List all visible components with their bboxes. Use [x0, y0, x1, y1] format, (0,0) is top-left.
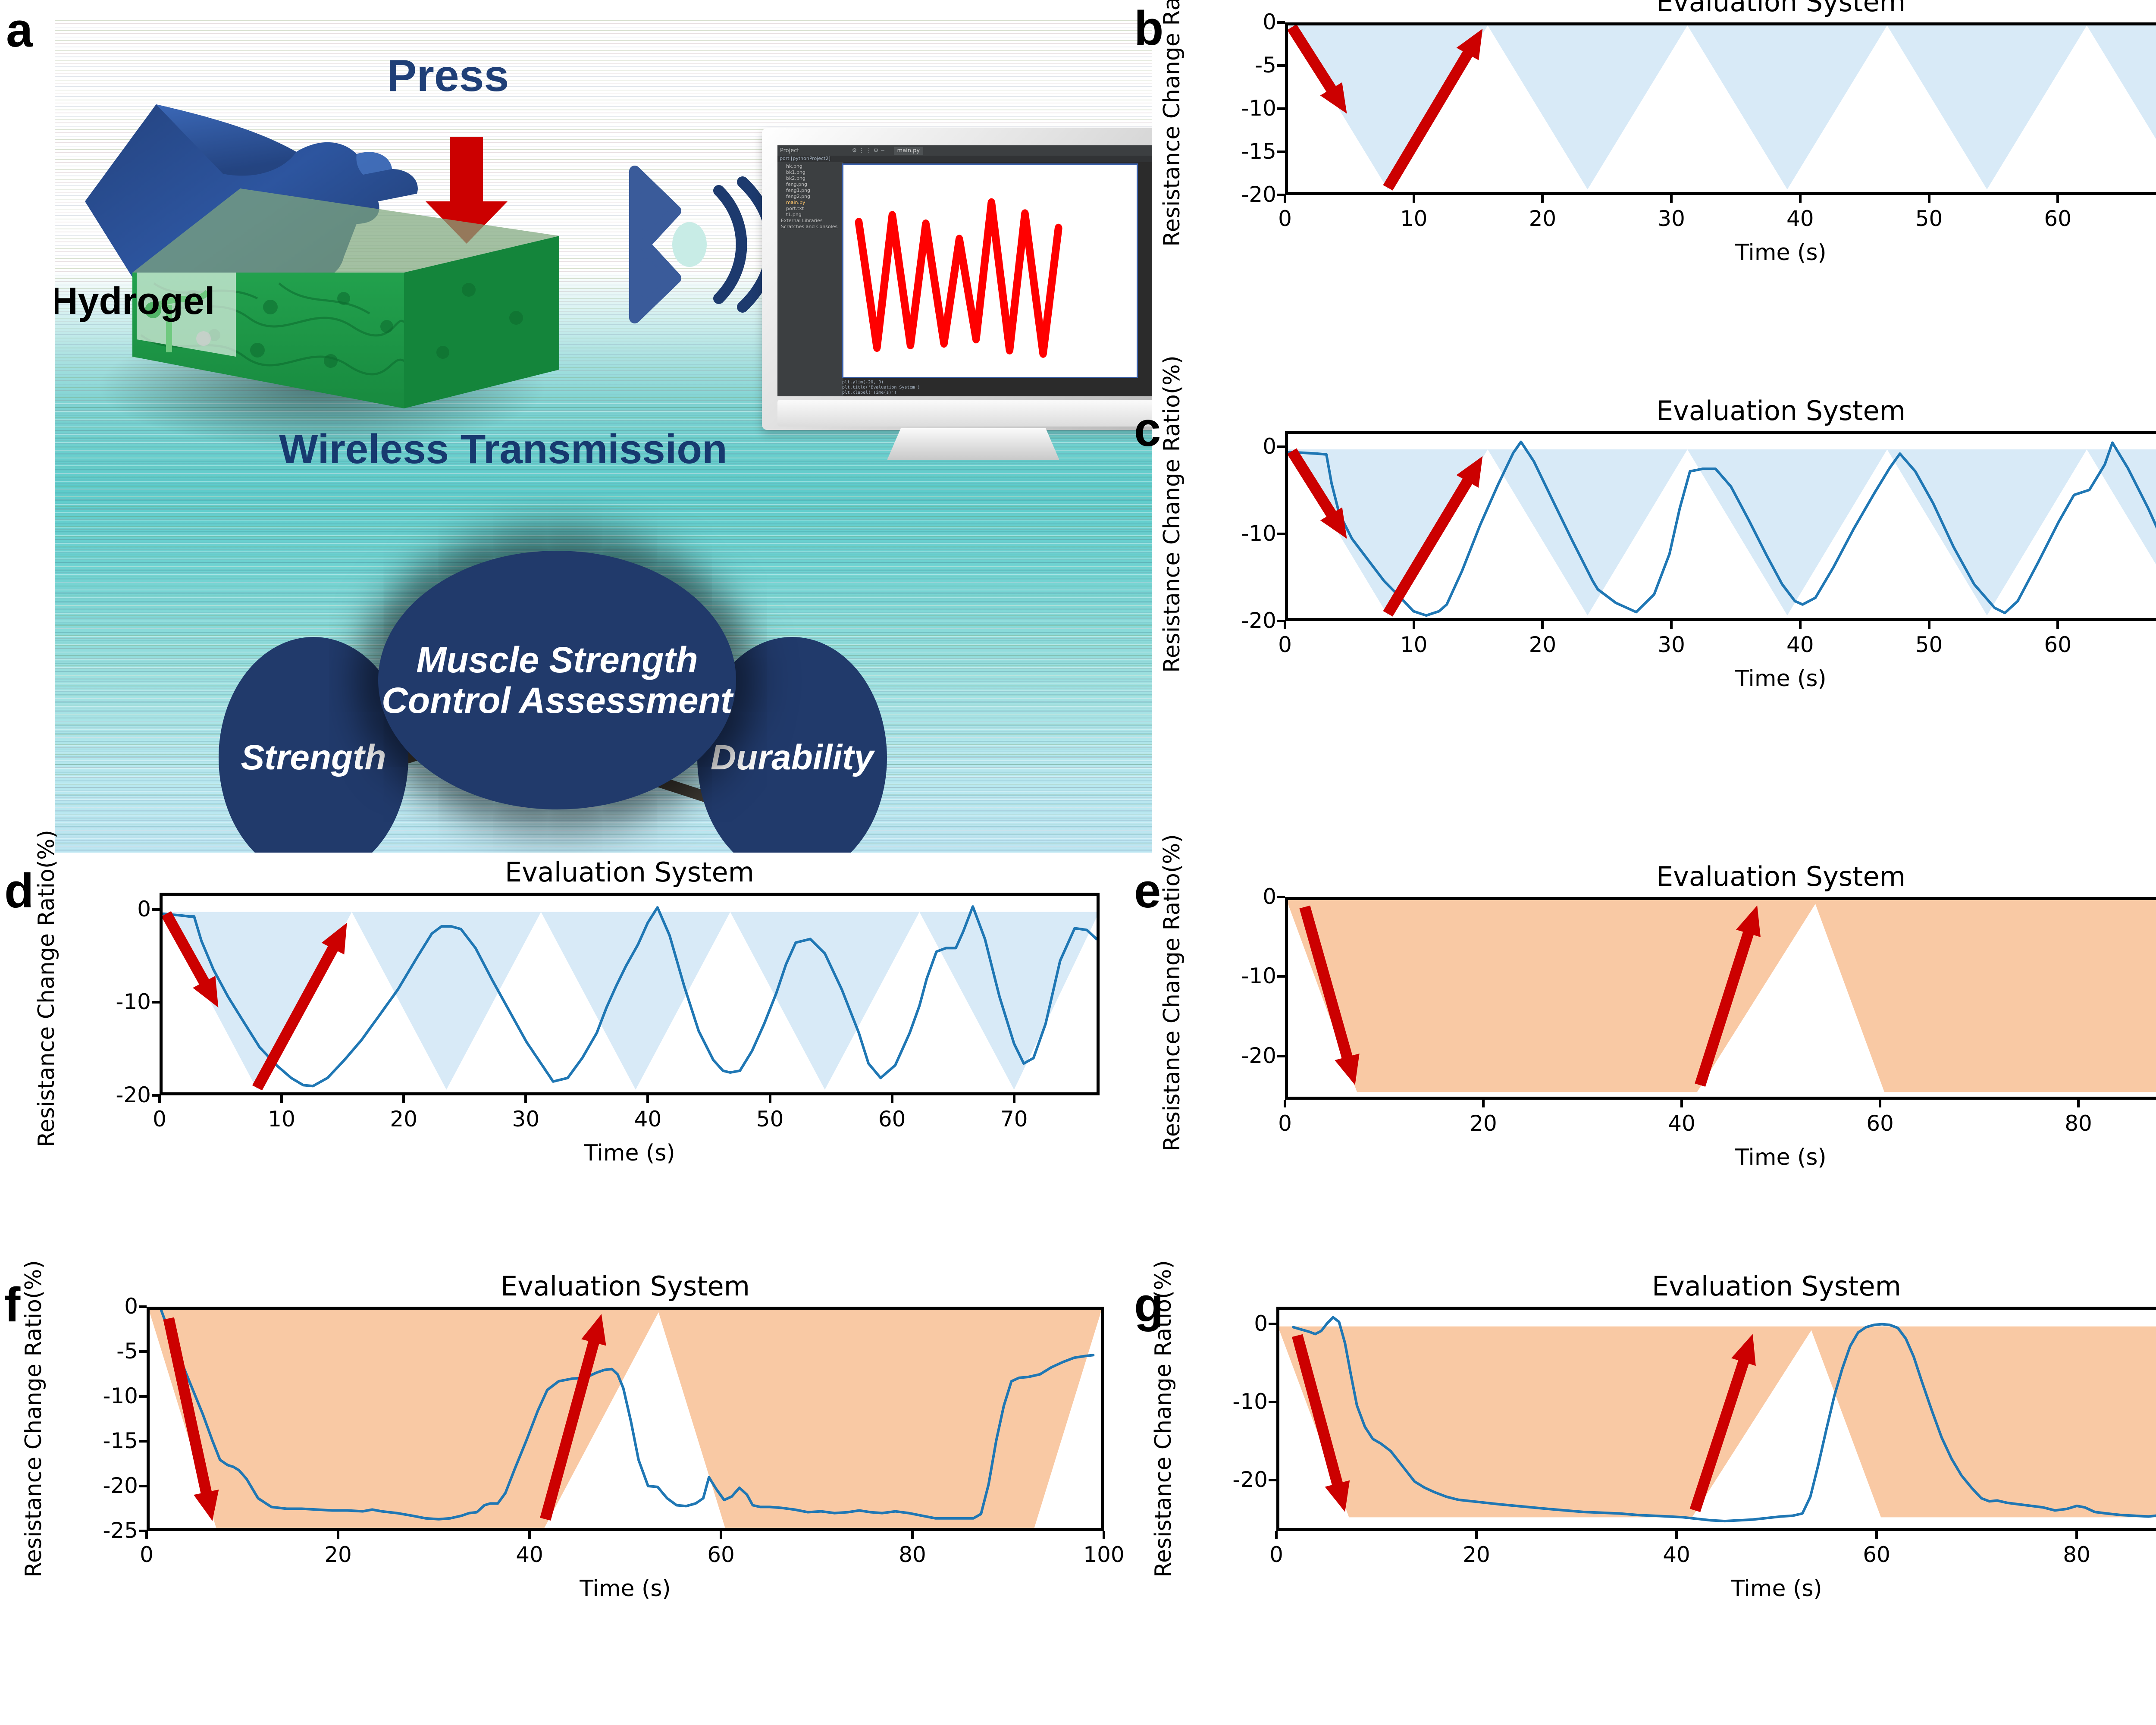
- y-tick-label: 0: [1194, 1311, 1268, 1336]
- x-tick-label: 40: [1761, 632, 1839, 657]
- x-tick-mark: [1284, 621, 1286, 629]
- chart-fill-area: [1288, 25, 2156, 189]
- monitor-screen: Project ⚙ ⋮ ⋮ ⚙ − main.py port [pythonPr…: [777, 145, 1152, 396]
- oval-muscle-strength-control-assessment: Muscle Strength Control Assessment: [378, 551, 736, 809]
- panel-letter-b: b: [1134, 4, 1163, 53]
- monitor-stand: [887, 428, 1059, 460]
- y-tick-mark: [139, 1350, 147, 1353]
- x-tick-mark: [1103, 1531, 1105, 1539]
- y-tick-mark: [1277, 975, 1285, 978]
- y-tick-label: -10: [1203, 521, 1276, 546]
- y-tick-mark: [139, 1395, 147, 1398]
- y-tick-mark: [139, 1305, 147, 1308]
- x-tick-mark: [145, 1531, 148, 1539]
- ide-tree-item[interactable]: feng2.png: [781, 194, 843, 200]
- y-tick-mark: [1269, 1401, 1276, 1403]
- oval-strength-label: Strength: [241, 738, 386, 778]
- x-tick-mark: [528, 1531, 531, 1539]
- ide-tree-item[interactable]: bk1.png: [781, 169, 843, 176]
- x-tick-label: 40: [1638, 1542, 1715, 1567]
- x-tick-mark: [1284, 195, 1286, 203]
- chart-plot-c: [1288, 434, 2156, 618]
- x-tick-label: 30: [1633, 206, 1710, 231]
- x-tick-mark: [1675, 1531, 1678, 1539]
- x-tick-label: 60: [1838, 1542, 1915, 1567]
- ide-tree-item[interactable]: feng1.png: [781, 188, 843, 194]
- monitor: Project ⚙ ⋮ ⋮ ⚙ − main.py port [pythonPr…: [762, 128, 1152, 430]
- x-tick-mark: [1670, 621, 1673, 629]
- chart-fill-area: [150, 1310, 1101, 1528]
- chart-plot-d: [163, 896, 1097, 1092]
- x-axis-label-g: Time (s): [1276, 1576, 2156, 1602]
- y-tick-mark: [1269, 1323, 1276, 1325]
- y-tick-label: -20: [1203, 182, 1276, 207]
- x-tick-label: 70: [2148, 206, 2156, 231]
- x-tick-label: 0: [1246, 206, 1324, 231]
- x-tick-mark: [1013, 1095, 1015, 1103]
- x-tick-mark: [2077, 1100, 2080, 1107]
- x-tick-label: 40: [491, 1542, 568, 1567]
- chart-axes-c: [1285, 431, 2156, 621]
- chart-fill-area: [1288, 900, 2156, 1092]
- y-tick-label: -15: [65, 1428, 138, 1453]
- x-tick-mark: [2075, 1531, 2078, 1539]
- x-tick-mark: [1284, 1100, 1286, 1107]
- x-tick-label: 20: [1504, 206, 1581, 231]
- y-tick-label: 0: [65, 1294, 138, 1319]
- panel-letter-e: e: [1134, 867, 1160, 915]
- x-tick-mark: [1928, 621, 1930, 629]
- x-tick-label: 30: [1633, 632, 1710, 657]
- y-tick-label: -10: [1194, 1389, 1268, 1414]
- chart-plot-b: [1288, 25, 2156, 192]
- ide-code-line: plt.ylim(-20, 0): [842, 380, 920, 385]
- x-tick-mark: [720, 1531, 722, 1539]
- chart-axes-e: [1285, 897, 2156, 1100]
- y-tick-label: -20: [65, 1473, 138, 1498]
- press-label: Press: [387, 50, 509, 102]
- x-tick-label: 60: [1841, 1111, 1919, 1136]
- oval-durability-label: Durability: [711, 738, 874, 778]
- y-tick-mark: [1277, 151, 1285, 153]
- ide-code-line: plt.title('Evaluation System'): [842, 385, 920, 390]
- y-tick-label: 0: [78, 897, 151, 922]
- x-tick-label: 10: [1375, 632, 1453, 657]
- y-axis-label-b: Resistance Change Ratio(%): [1159, 0, 1185, 247]
- x-tick-label: 0: [1246, 1111, 1324, 1136]
- x-tick-mark: [646, 1095, 649, 1103]
- ide-toolbar: Project ⚙ ⋮ ⋮ ⚙ − main.py: [777, 145, 1152, 156]
- y-tick-mark: [1277, 107, 1285, 110]
- x-tick-mark: [1413, 195, 1415, 203]
- chart-axes-d: [160, 893, 1100, 1095]
- x-tick-label: 20: [1504, 632, 1581, 657]
- x-tick-label: 20: [1445, 1111, 1522, 1136]
- x-tick-mark: [1413, 621, 1415, 629]
- x-tick-mark: [402, 1095, 405, 1103]
- x-tick-mark: [1670, 195, 1673, 203]
- chart-title-e: Evaluation System: [1285, 861, 2156, 892]
- y-tick-mark: [1277, 896, 1285, 898]
- x-tick-mark: [1680, 1100, 1683, 1107]
- x-tick-label: 10: [1375, 206, 1453, 231]
- x-tick-mark: [1541, 195, 1544, 203]
- ide-tab-mainpy[interactable]: main.py: [894, 147, 924, 155]
- y-axis-label-d: Resistance Change Ratio(%): [34, 841, 60, 1147]
- x-tick-mark: [2056, 195, 2059, 203]
- y-tick-mark: [1277, 64, 1285, 67]
- y-tick-label: -20: [1203, 608, 1276, 633]
- ide-external-libraries[interactable]: External Libraries: [781, 218, 843, 224]
- chart-axes-g: [1276, 1307, 2156, 1531]
- y-tick-label: -10: [1203, 96, 1276, 121]
- x-tick-label: 50: [1890, 632, 1968, 657]
- panel-letter-a: a: [6, 6, 32, 54]
- y-tick-mark: [152, 1001, 160, 1004]
- ide-code-line: plt.xlabel('Time(s)'): [842, 390, 920, 395]
- x-tick-label: 70: [2148, 632, 2156, 657]
- x-tick-mark: [769, 1095, 771, 1103]
- x-tick-mark: [1879, 1100, 1881, 1107]
- y-tick-mark: [1269, 1479, 1276, 1481]
- x-tick-label: 40: [609, 1107, 686, 1132]
- chart-title-f: Evaluation System: [147, 1270, 1104, 1302]
- ide-project-tree[interactable]: hk.png bk1.png bk2.png feng.png feng1.pn…: [777, 162, 843, 396]
- chart-title-b: Evaluation System: [1285, 0, 2156, 18]
- y-tick-label: -20: [1194, 1467, 1268, 1492]
- chart-plot-e: [1288, 900, 2156, 1097]
- hydrogel-label: Hydrogel: [55, 279, 215, 323]
- x-tick-label: 100: [1065, 1542, 1143, 1567]
- x-axis-label-b: Time (s): [1285, 240, 2156, 266]
- y-axis-label-g: Resistance Change Ratio(%): [1150, 1255, 1176, 1583]
- x-tick-label: 50: [731, 1107, 809, 1132]
- x-tick-label: 0: [108, 1542, 185, 1567]
- x-tick-label: 60: [682, 1542, 760, 1567]
- x-tick-label: 0: [1246, 632, 1324, 657]
- x-tick-mark: [1475, 1531, 1478, 1539]
- y-tick-label: -10: [78, 989, 151, 1014]
- ide-tree-item[interactable]: feng.png: [781, 182, 843, 188]
- x-axis-label-d: Time (s): [160, 1140, 1100, 1166]
- x-tick-label: 80: [874, 1542, 951, 1567]
- y-tick-mark: [139, 1485, 147, 1487]
- x-tick-label: 40: [1643, 1111, 1720, 1136]
- x-tick-mark: [337, 1531, 339, 1539]
- y-tick-mark: [1277, 21, 1285, 24]
- x-tick-mark: [1275, 1531, 1278, 1539]
- x-tick-label: 80: [2040, 1111, 2117, 1136]
- monitor-plot-window: [842, 163, 1138, 378]
- x-axis-label-e: Time (s): [1285, 1145, 2156, 1170]
- y-tick-label: -10: [65, 1383, 138, 1408]
- ide-scratches-consoles[interactable]: Scratches and Consoles: [781, 224, 843, 230]
- y-tick-label: 0: [1203, 9, 1276, 34]
- ide-tree-item[interactable]: main.py: [781, 200, 843, 206]
- ide-tree-item[interactable]: port.txt: [781, 206, 843, 212]
- ide-code-area[interactable]: plt.ylim(-20, 0) plt.title('Evaluation S…: [842, 380, 920, 395]
- x-tick-mark: [1928, 195, 1930, 203]
- x-tick-label: 20: [1438, 1542, 1515, 1567]
- x-tick-label: 20: [299, 1542, 377, 1567]
- x-tick-mark: [891, 1095, 893, 1103]
- y-tick-mark: [1277, 533, 1285, 535]
- x-axis-label-f: Time (s): [147, 1576, 1104, 1602]
- x-tick-label: 20: [365, 1107, 442, 1132]
- panel-letter-c: c: [1134, 405, 1160, 454]
- x-tick-mark: [2056, 621, 2059, 629]
- x-tick-label: 80: [2038, 1542, 2115, 1567]
- ide-tree-item[interactable]: t1.png: [781, 212, 843, 218]
- y-tick-label: -5: [1203, 53, 1276, 78]
- panel-a-illustration: Press: [55, 20, 1152, 853]
- x-tick-mark: [1799, 195, 1802, 203]
- x-tick-label: 60: [2019, 206, 2096, 231]
- panel-letter-d: d: [4, 867, 33, 915]
- x-tick-mark: [1799, 621, 1802, 629]
- x-tick-label: 10: [243, 1107, 320, 1132]
- y-tick-label: -20: [78, 1082, 151, 1107]
- x-tick-mark: [1541, 621, 1544, 629]
- chart-title-g: Evaluation System: [1276, 1270, 2156, 1302]
- panel-letter-f: f: [4, 1281, 19, 1329]
- x-tick-label: 0: [121, 1107, 198, 1132]
- ide-breadcrumb: port [pythonProject2]: [777, 156, 1152, 162]
- y-tick-label: -5: [65, 1339, 138, 1364]
- y-tick-label: -20: [1203, 1043, 1276, 1068]
- x-tick-label: 30: [487, 1107, 564, 1132]
- chart-plot-f: [150, 1310, 1101, 1528]
- wireless-transmission-label: Wireless Transmission: [279, 426, 727, 473]
- monitor-chin: [777, 400, 1152, 427]
- y-tick-label: -15: [1203, 139, 1276, 164]
- y-axis-label-e: Resistance Change Ratio(%): [1159, 845, 1185, 1151]
- ide-project-label[interactable]: Project: [780, 147, 799, 154]
- y-tick-label: 0: [1203, 434, 1276, 459]
- y-axis-label-f: Resistance Change Ratio(%): [21, 1255, 47, 1583]
- x-tick-label: 50: [1890, 206, 1968, 231]
- x-tick-mark: [280, 1095, 283, 1103]
- x-tick-mark: [524, 1095, 527, 1103]
- x-tick-label: 70: [975, 1107, 1053, 1132]
- x-tick-label: 40: [1761, 206, 1839, 231]
- oval-center-line1: Muscle Strength: [382, 640, 733, 680]
- chart-axes-f: [147, 1307, 1104, 1531]
- x-tick-mark: [1875, 1531, 1878, 1539]
- y-tick-mark: [1277, 1055, 1285, 1057]
- chart-axes-b: [1285, 22, 2156, 195]
- y-tick-mark: [139, 1440, 147, 1443]
- x-axis-label-c: Time (s): [1285, 666, 2156, 692]
- y-tick-label: -10: [1203, 963, 1276, 988]
- ide-tree-item[interactable]: hk.png: [781, 163, 843, 169]
- oval-center-line2: Control Assessment: [382, 680, 733, 721]
- x-tick-label: 60: [853, 1107, 931, 1132]
- y-tick-label: 0: [1203, 884, 1276, 909]
- chart-title-d: Evaluation System: [160, 856, 1100, 888]
- chart-plot-g: [1279, 1310, 2156, 1528]
- y-tick-mark: [152, 908, 160, 911]
- y-axis-label-c: Resistance Change Ratio(%): [1159, 379, 1185, 673]
- x-tick-mark: [911, 1531, 914, 1539]
- ide-tree-item[interactable]: bk2.png: [781, 176, 843, 182]
- y-tick-label: -25: [65, 1518, 138, 1543]
- x-tick-mark: [158, 1095, 161, 1103]
- x-tick-mark: [1482, 1100, 1485, 1107]
- chart-fill-area: [1279, 1327, 2156, 1518]
- y-tick-mark: [1277, 445, 1285, 448]
- x-tick-label: 60: [2019, 632, 2096, 657]
- x-tick-label: 0: [1238, 1542, 1315, 1567]
- chart-title-c: Evaluation System: [1285, 395, 2156, 427]
